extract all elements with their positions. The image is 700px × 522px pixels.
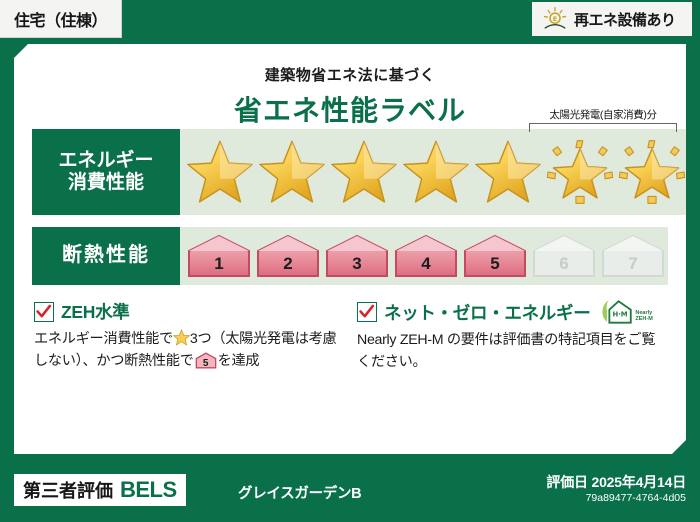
insulation-performance-label: 断熱性能 [32, 227, 180, 285]
zeh-standard-checkbox[interactable] [34, 302, 54, 322]
energy-label-line1: エネルギー [58, 150, 153, 172]
check-icon [358, 303, 375, 320]
net-zero-energy-checkbox[interactable] [357, 302, 377, 322]
net-zero-energy-title: ネット・ゼロ・エネルギー [384, 300, 590, 325]
footer: 第三者評価 BELS グレイスガーデンB 評価日 2025年4月14日 79a8… [0, 464, 700, 522]
insulation-grades-area: 1 2 3 [180, 227, 668, 285]
label-header: 建築物省エネ法に基づく 省エネ性能ラベル [14, 44, 686, 129]
zehm-logo-sub2: ZEH-M [635, 317, 652, 323]
star-icon [474, 139, 542, 205]
house-badge-icon: 5 [195, 352, 217, 369]
inline-house-number: 5 [195, 359, 217, 369]
renewable-energy-badge: E 再エネ設備あり [532, 2, 692, 36]
energy-label-card: 建築物省エネ法に基づく 省エネ性能ラベル エネルギー 消費性能 太陽光発電(自家… [14, 44, 686, 454]
net-zero-energy-body: Nearly ZEH-M の要件は評価書の特記項目をご覧ください。 [357, 330, 666, 373]
zeh-body-part3: を達成 [218, 353, 260, 369]
star-icon [402, 139, 470, 205]
energy-label-line2: 消費性能 [68, 172, 144, 194]
criteria-nze-header: ネット・ゼロ・エネルギー H·M Nearly ZEH-M [357, 299, 666, 325]
label-title: 省エネ性能ラベル [14, 89, 686, 129]
insulation-grade-number: 3 [324, 254, 390, 274]
insulation-grade-number: 1 [186, 254, 252, 274]
insulation-grade-number: 6 [531, 254, 597, 274]
insulation-grade-number: 4 [393, 254, 459, 274]
top-bar: 住宅（住棟） E 再エネ設備あり [0, 0, 700, 40]
insulation-grade-6: 6 [531, 234, 597, 278]
bels-mark: BELS [120, 477, 177, 503]
criteria-zeh-standard: ZEH水準 エネルギー消費性能で3つ（太陽光発電は考慮しない）、かつ断熱性能で5… [34, 299, 343, 373]
star-5 [472, 133, 543, 211]
insulation-grade-number: 5 [462, 254, 528, 274]
star-1 [184, 133, 255, 211]
document-type-tag: 住宅（住棟） [0, 0, 122, 38]
evaluation-date: 評価日 2025年4月14日 [546, 472, 686, 492]
renewable-badge-label: 再エネ設備あり [574, 9, 676, 30]
insulation-grade-7: 7 [600, 234, 666, 278]
star-icon [186, 139, 254, 205]
zeh-body-star-count: 3つ（太陽光発電 [190, 331, 295, 347]
bels-certification-box: 第三者評価 BELS [14, 474, 186, 506]
zeh-standard-body: エネルギー消費性能で3つ（太陽光発電は考慮しない）、かつ断熱性能で5を達成 [34, 329, 343, 372]
star-sparkle-icon [618, 139, 686, 205]
criteria-zeh-header: ZEH水準 [34, 299, 343, 324]
energy-stars-area: 太陽光発電(自家消費)分 [180, 129, 687, 215]
svg-text:H·M: H·M [613, 311, 628, 319]
insulation-performance-row: 断熱性能 1 [32, 227, 668, 285]
star-3 [328, 133, 399, 211]
insulation-grade-3: 3 [324, 234, 390, 278]
criteria-section: ZEH水準 エネルギー消費性能で3つ（太陽光発電は考慮しない）、かつ断熱性能で5… [34, 299, 666, 373]
insulation-grade-1: 1 [186, 234, 252, 278]
insulation-grade-strip: 1 2 3 [180, 227, 666, 285]
insulation-label-text: 断熱性能 [62, 244, 150, 268]
star-rating-strip [180, 129, 687, 215]
zeh-body-part1: エネルギー消費性能で [34, 331, 173, 347]
star-icon [258, 139, 326, 205]
star-4 [400, 133, 471, 211]
insulation-grade-number: 2 [255, 254, 321, 274]
star-sparkle-icon [546, 139, 614, 205]
property-name: グレイスガーデンB [238, 482, 361, 503]
energy-performance-row: エネルギー 消費性能 太陽光発電(自家消費)分 [32, 129, 668, 215]
star-6-solar [544, 133, 615, 211]
insulation-grade-4: 4 [393, 234, 459, 278]
insulation-grade-number: 7 [600, 254, 666, 274]
label-subtitle: 建築物省エネ法に基づく [14, 64, 686, 85]
nearly-zeh-m-logo: H·M Nearly ZEH-M [600, 299, 652, 325]
star-icon [330, 139, 398, 205]
insulation-grade-2: 2 [255, 234, 321, 278]
zeh-m-house-icon: H·M [600, 299, 634, 325]
evaluation-id: 79a89477-4764-4d05 [586, 492, 686, 504]
star-2 [256, 133, 327, 211]
document-type-label: 住宅（住棟） [14, 7, 107, 31]
criteria-net-zero-energy: ネット・ゼロ・エネルギー H·M Nearly ZEH-M Nearly ZEH… [357, 299, 666, 373]
energy-performance-label: エネルギー 消費性能 [32, 129, 180, 215]
zeh-standard-title: ZEH水準 [61, 299, 130, 324]
check-icon [35, 303, 52, 320]
bels-label: 第三者評価 [23, 477, 113, 503]
sun-icon: E [542, 6, 568, 32]
insulation-grade-5: 5 [462, 234, 528, 278]
star-icon [173, 329, 190, 346]
svg-text:E: E [553, 15, 557, 23]
star-7-solar [616, 133, 687, 211]
